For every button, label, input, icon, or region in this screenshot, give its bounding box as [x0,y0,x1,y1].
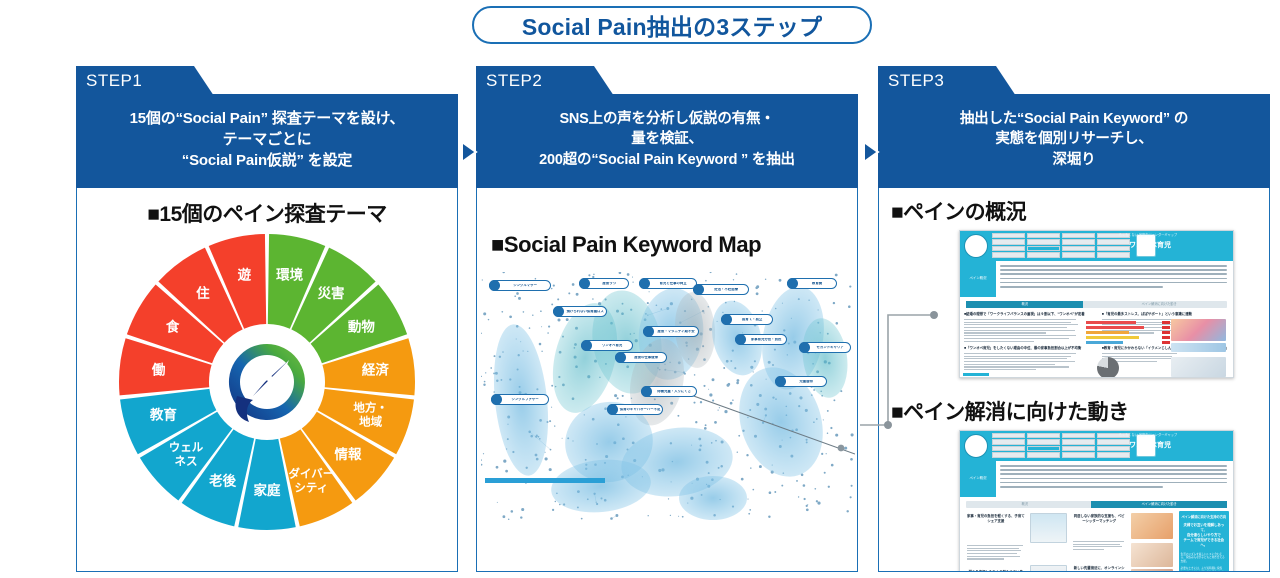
keyword-callout-8[interactable]: 家事育児分担・負担 [735,334,787,345]
keyword-callout-10[interactable]: セカンドキャリア [799,342,851,353]
keyword-callout-dot-icon [693,284,704,295]
doc1-content: ■結婚の理想で「ワークライフバランスの重視」は９割以下、“ワンオペ”が定着 ■「… [964,311,1229,373]
keyword-callout-label: 教育費 [798,282,836,286]
keyword-callout-label: 産後の仕事復帰 [626,356,666,360]
pain-overview-report-thumbnail[interactable]: もくもくない 家庭内ジェンダーギャップ ワンオペ育児 ペイン概況 概況 ペイン解… [959,230,1234,378]
doc1-summary-lines [1000,265,1227,290]
keyword-callout-6[interactable]: 孤育て・孤立 [721,314,773,325]
doc2-photo-baby [1131,543,1173,567]
doc2-nav-left[interactable]: 概況 [966,501,1083,508]
doc1-text-block-1 [964,319,1081,343]
keyword-callout-9[interactable]: ワンオペ育児 [581,340,633,351]
doc-meta-cell [992,252,1025,257]
step1-body: ■15個のペイン探査テーマ [76,188,458,572]
doc2-top-note: もくもくない 家庭内ジェンダーギャップ [1073,432,1223,437]
step1-headline: 15個の“Social Pain” 探査テーマを設け、 テーマごとに “Soci… [130,108,405,172]
doc1-pie-chart [1097,357,1119,378]
keyword-callout-dot-icon [553,306,564,317]
doc-meta-cell [992,246,1025,251]
keyword-callout-label: 待機児童・入りにくさ [652,390,696,394]
keyword-callout-label: 預けられない保育園ロス [564,310,606,314]
step1-to-step2-arrow-icon [460,140,478,164]
keyword-callout-dot-icon [799,342,810,353]
doc1-section-2: ■「育児の最多ストレス、ぱぱサポート」という意識に連動 [1102,311,1229,318]
keyword-callout-3[interactable]: 妊活・不妊治療 [693,284,749,295]
doc2-summary-lines [1000,465,1227,490]
doc-meta-cell [1027,452,1060,457]
doc1-nav-bar: 概況 ペイン解消に向けた動き [966,301,1227,308]
doc2-card-3-text [1073,541,1126,552]
wheel-segment-label-1: 災害 [317,284,345,300]
doc-meta-cell [1027,439,1060,444]
step1-tab: STEP1 [76,66,214,96]
doc2-highlight-bullet-2: 必要なときには、より短時間に家族に、プロのちとと頼れる仕組みづくりの支援。 [1181,567,1227,572]
step2-to-step3-arrow-icon [862,140,880,164]
keyword-callout-label: 妊活・不妊治療 [704,288,748,292]
doc1-summary: ペイン概況 [960,261,1233,297]
step2-panel: STEP2 SNS上の声を分析し仮説の有無・ 量を検証、 200超の“Socia… [476,66,858,572]
doc2-card-2: 預かり先探しもちんの悩みやすい先生、キッズシッターサービス [967,569,1025,572]
pain-theme-wheel: 環境災害動物経済地方・地域情報ダイバーシティ家庭老後ウェルネス教育働食住遊 [117,232,417,532]
doc2-logo-icon [964,434,988,458]
step2-body: ■Social Pain Keyword Map [476,188,858,572]
step3-headline-band: 抽出した“Social Pain Keyword” の 実態を個別リサーチし、 … [878,94,1270,189]
wheel-segment-label-6: ダイバーシティ [288,467,334,495]
keyword-callout-12[interactable]: 待機児童・入りにくさ [641,386,697,397]
step1-header: STEP1 15個の“Social Pain” 探査テーマを設け、 テーマごとに… [76,66,458,189]
doc2-app-screenshot-2 [1030,565,1067,572]
wheel-segment-label-12: 食 [166,318,180,334]
keyword-callout-14[interactable]: シングルファザー [491,394,549,405]
step2-headline: SNS上の声を分析し仮説の有無・ 量を検証、 200超の“Social Pain… [539,109,795,171]
wheel-segment-label-10: 教育 [150,406,177,422]
keyword-callout-dot-icon [489,280,500,291]
step2-section-title: ■Social Pain Keyword Map [491,232,761,258]
page-title: Social Pain抽出の3ステップ [522,8,822,42]
doc1-nav-right[interactable]: ペイン解消に向けた動き [1091,301,1227,308]
keyword-callout-4[interactable]: 教育費 [787,278,837,289]
keyword-callout-label: 産後・マタニティ期不安 [654,330,698,334]
keyword-callout-label: ワンオペ育児 [592,344,632,348]
wheel-segment-label-5: 情報 [335,445,362,461]
keyword-callout-label: 育児と仕事の両立 [650,282,696,286]
step3-tab: STEP3 [878,66,1016,96]
keyword-callout-dot-icon [735,334,746,345]
keyword-callout-label: 児童虐待 [786,380,826,384]
step3-headline: 抽出した“Social Pain Keyword” の 実態を個別リサーチし、 … [960,109,1188,171]
doc1-top-note: もくもくない 家庭内ジェンダーギャップ [1073,232,1223,237]
doc2-card-1: 家事・育児の負担を軽くする、子育てシェア支援 [967,513,1025,525]
wheel-segment-label-13: 住 [196,284,210,300]
wheel-segment-label-11: 働 [151,361,166,377]
keyword-callout-15[interactable]: 保育のキャパオーバー不足 [607,404,663,415]
doc2-highlight-body: 夫婦でお互いを理解しあって、 自分達らしいやり方で チームで育児ができる社会へ。 [1181,523,1227,549]
keyword-callout-13[interactable]: 児童虐待 [775,376,827,387]
wheel-segment-label-7: 家庭 [254,482,281,498]
step1-tab-label: STEP1 [76,71,142,91]
keyword-callout-dot-icon [491,394,502,405]
doc-meta-cell [992,239,1025,244]
keyword-callout-label: シングルファザー [502,398,548,402]
doc-meta-cell [1027,239,1060,244]
doc-meta-cell [1027,233,1060,238]
keyword-callout-dot-icon [607,404,618,415]
doc2-photo-meal [1131,513,1173,539]
doc2-highlight-bullet-1: 生活のリズムを崩しいトキに合わえる、家族みんなが子どもと向き合える支援。 [1181,553,1227,564]
keyword-callout-7[interactable]: 産後・マタニティ期不安 [643,326,699,337]
wheel-segment-label-8: 老後 [209,472,236,488]
keyword-callout-11[interactable]: 産後の仕事復帰 [615,352,667,363]
wheel-segment-label-2: 動物 [348,318,375,334]
step1-panel: STEP1 15個の“Social Pain” 探査テーマを設け、 テーマごとに… [76,66,458,572]
doc1-section-3: ■「ワンオペ育児」をしたくない理由の中位、最の家事負担割合以上が不均衡 [964,345,1091,352]
step3-tab-label: STEP3 [878,71,944,91]
keyword-callout-5[interactable]: 預けられない保育園ロス [553,306,607,317]
step1-headline-band: 15個の“Social Pain” 探査テーマを設け、 テーマごとに “Soci… [76,94,458,189]
keyword-callout-dot-icon [581,340,592,351]
doc1-section-1: ■結婚の理想で「ワークライフバランスの重視」は９割以下、“ワンオペ”が定着 [964,311,1091,318]
doc2-nav-right[interactable]: ペイン解消に向けた動き [1091,501,1227,508]
step2-tab-label: STEP2 [476,71,542,91]
map-to-documents-connector [860,300,950,440]
keyword-callout-label: 家事育児分担・負担 [746,338,786,342]
wheel-segment-label-14: 遊 [238,266,252,282]
doc1-photo-family [1171,319,1227,341]
doc1-footer-mark [963,373,989,376]
doc-meta-cell [1027,246,1060,251]
keyword-callout-2[interactable]: 育児と仕事の両立 [639,278,697,289]
doc1-logo-icon [964,234,988,258]
page-title-pill: Social Pain抽出の3ステップ [472,6,872,44]
keyword-callout-dot-icon [641,386,652,397]
doc1-brand-title: ワンオペ育児 [1075,240,1225,250]
step2-tab: STEP2 [476,66,614,96]
keyword-callout-dot-icon [639,278,650,289]
doc-meta-cell [1097,452,1130,457]
doc2-highlight-panel: ペイン解消に向けた支持の方向 夫婦でお互いを理解しあって、 自分達らしいやり方で… [1179,511,1229,572]
doc-meta-cell [992,433,1025,438]
doc-meta-cell [992,439,1025,444]
doc2-nav-bar: 概況 ペイン解消に向けた動き [966,501,1227,508]
doc-meta-cell [992,452,1025,457]
doc2-photo-parent [1131,569,1173,572]
wheel-svg: 環境災害動物経済地方・地域情報ダイバーシティ家庭老後ウェルネス教育働食住遊 [117,232,417,532]
keyword-callout-dot-icon [643,326,654,337]
doc1-photo-chat [1171,357,1227,377]
social-pain-keyword-map: シングルマザー産後うつ育児と仕事の両立妊活・不妊治療教育費預けられない保育園ロス… [481,272,855,522]
doc1-nav-left[interactable]: 概況 [966,301,1083,308]
step2-header: STEP2 SNS上の声を分析し仮説の有無・ 量を検証、 200超の“Socia… [476,66,858,189]
keyword-callout-dot-icon [615,352,626,363]
step3-section-title-overview: ■ペインの概況 [891,196,1026,226]
step3-header: STEP3 抽出した“Social Pain Keyword” の 実態を個別リ… [878,66,1270,189]
doc-meta-cell [1062,252,1095,257]
pain-solution-report-thumbnail[interactable]: もくもくない 家庭内ジェンダーギャップ ワンオペ育児 ペイン概況 概況 ペイン解… [959,430,1234,572]
doc-meta-cell [1097,252,1130,257]
wheel-segment-label-0: 環境 [276,266,304,282]
doc-meta-cell [1027,252,1060,257]
keyword-callout-label: 孤育て・孤立 [732,318,772,322]
doc-meta-cell [992,233,1025,238]
doc2-side-tag: ペイン概況 [960,461,996,497]
keyword-callout-dot-icon [775,376,786,387]
doc-meta-cell [1062,452,1095,457]
wheel-segment-label-3: 経済 [362,361,389,377]
doc1-side-tag: ペイン概況 [960,261,996,297]
keyword-callout-label: シングルマザー [500,284,550,288]
step2-headline-band: SNS上の声を分析し仮説の有無・ 量を検証、 200超の“Social Pain… [476,94,858,189]
keyword-callout-dot-icon [787,278,798,289]
keyword-callout-label: 保育のキャパオーバー不足 [618,408,662,412]
doc2-card-3: 同居しない家族的な支援も、ベビーシッターマッチング [1073,513,1126,525]
doc2-brand-title: ワンオペ育児 [1075,440,1225,450]
doc1-bar-chart [1086,321,1160,349]
keyword-callout-label: 産後うつ [590,282,628,286]
step1-section-title: ■15個のペイン探査テーマ [77,198,457,228]
keyword-map-footer-bar [485,478,605,483]
doc-meta-cell [992,446,1025,451]
doc2-card-1-text [967,545,1025,561]
keyword-callout-0[interactable]: シングルマザー [489,280,551,291]
doc2-card-4: 新しい先輩接近に、オンラインシッティング [1073,565,1126,572]
doc-meta-cell [1027,446,1060,451]
doc2-summary: ペイン概況 [960,461,1233,497]
doc2-content: 家事・育児の負担を軽くする、子育てシェア支援 預かり先探しもちんの悩みやすい先生… [964,511,1229,572]
doc2-app-screenshot-1 [1030,513,1067,543]
keyword-callout-dot-icon [579,278,590,289]
doc-meta-cell [1027,433,1060,438]
doc1-photo-strip [1171,343,1227,352]
doc1-text-block-3 [964,353,1081,372]
keyword-callout-dot-icon [721,314,732,325]
keyword-callout-1[interactable]: 産後うつ [579,278,629,289]
keyword-callout-label: セカンドキャリア [810,346,850,350]
